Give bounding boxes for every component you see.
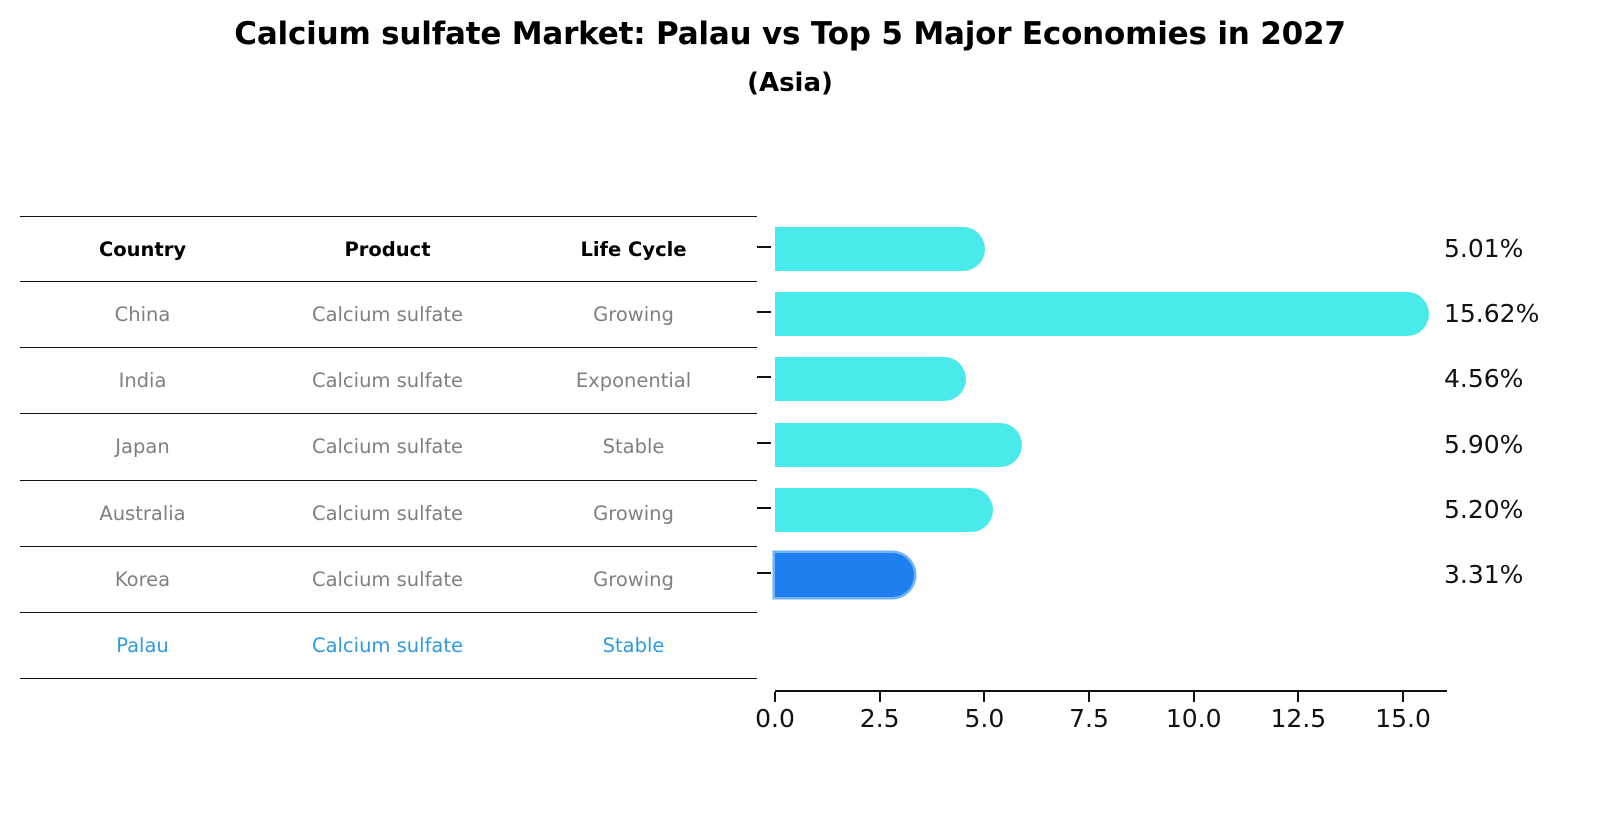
- cell-product: Calcium sulfate: [265, 546, 510, 612]
- cell-product: Calcium sulfate: [265, 612, 510, 678]
- cell-product: Calcium sulfate: [265, 348, 510, 414]
- x-axis-tick-label: 12.5: [1271, 704, 1327, 733]
- country-table: Country Product Life Cycle ChinaCalcium …: [20, 216, 757, 679]
- bar-india: [775, 292, 1429, 336]
- x-axis: 0.02.55.07.510.012.515.0: [757, 690, 1447, 740]
- table-header-row: Country Product Life Cycle: [20, 217, 757, 282]
- bar-row: [757, 216, 1447, 281]
- bar-china: [775, 227, 985, 271]
- table-row: KoreaCalcium sulfateGrowing: [20, 546, 757, 612]
- page-title: Calcium sulfate Market: Palau vs Top 5 M…: [0, 14, 1580, 54]
- cell-life-cycle: Exponential: [510, 348, 757, 414]
- y-axis-tick: [757, 572, 771, 574]
- value-label-china: 5.01%: [1444, 216, 1523, 281]
- bar-row: [757, 281, 1447, 346]
- value-label-japan: 4.56%: [1444, 346, 1523, 411]
- x-axis-tick: [983, 692, 985, 702]
- x-axis-tick: [1297, 692, 1299, 702]
- bar-palau: [775, 553, 914, 597]
- y-axis-tick: [757, 246, 771, 248]
- value-label-palau: 3.31%: [1444, 542, 1523, 607]
- value-label-india: 15.62%: [1444, 281, 1539, 346]
- cell-life-cycle: Stable: [510, 612, 757, 678]
- table-body: ChinaCalcium sulfateGrowingIndiaCalcium …: [20, 282, 757, 679]
- cell-country: Palau: [20, 612, 265, 678]
- bar-row: [757, 542, 1447, 607]
- value-label-australia: 5.90%: [1444, 412, 1523, 477]
- bar-row: [757, 412, 1447, 477]
- bar-australia: [775, 423, 1022, 467]
- bar-korea: [775, 488, 993, 532]
- cell-country: Korea: [20, 546, 265, 612]
- bar-value-labels: 5.01%15.62%4.56%5.90%5.20%3.31%: [1444, 216, 1604, 691]
- x-axis-tick-label: 0.0: [755, 704, 795, 733]
- x-axis-tick-label: 7.5: [1069, 704, 1109, 733]
- x-axis-tick-label: 5.0: [964, 704, 1004, 733]
- column-header-life-cycle: Life Cycle: [510, 217, 757, 282]
- table: Country Product Life Cycle ChinaCalcium …: [20, 216, 757, 679]
- cell-product: Calcium sulfate: [265, 414, 510, 480]
- x-axis-tick: [1193, 692, 1195, 702]
- cell-product: Calcium sulfate: [265, 480, 510, 546]
- x-axis-tick: [774, 692, 776, 702]
- table-row: AustraliaCalcium sulfateGrowing: [20, 480, 757, 546]
- cell-life-cycle: Growing: [510, 480, 757, 546]
- x-axis-line: [775, 690, 1447, 692]
- x-axis-tick: [879, 692, 881, 702]
- x-axis-tick-label: 10.0: [1166, 704, 1222, 733]
- column-header-product: Product: [265, 217, 510, 282]
- bar-row: [757, 346, 1447, 411]
- x-axis-tick: [1088, 692, 1090, 702]
- x-axis-tick-label: 15.0: [1375, 704, 1431, 733]
- table-row: IndiaCalcium sulfateExponential: [20, 348, 757, 414]
- x-axis-tick-label: 2.5: [860, 704, 900, 733]
- cell-country: China: [20, 282, 265, 348]
- y-axis-tick: [757, 376, 771, 378]
- cell-country: India: [20, 348, 265, 414]
- cell-country: Australia: [20, 480, 265, 546]
- cell-life-cycle: Growing: [510, 282, 757, 348]
- cell-life-cycle: Stable: [510, 414, 757, 480]
- table-row: JapanCalcium sulfateStable: [20, 414, 757, 480]
- title-block: Calcium sulfate Market: Palau vs Top 5 M…: [0, 14, 1580, 102]
- column-header-country: Country: [20, 217, 265, 282]
- y-axis-tick: [757, 311, 771, 313]
- bar-chart-plot-area: [757, 216, 1447, 691]
- cell-product: Calcium sulfate: [265, 282, 510, 348]
- y-axis-tick: [757, 442, 771, 444]
- bar-japan: [775, 357, 966, 401]
- value-label-korea: 5.20%: [1444, 477, 1523, 542]
- cell-life-cycle: Growing: [510, 546, 757, 612]
- y-axis-tick: [757, 507, 771, 509]
- x-axis-tick: [1402, 692, 1404, 702]
- table-row: ChinaCalcium sulfateGrowing: [20, 282, 757, 348]
- cell-country: Japan: [20, 414, 265, 480]
- table-row: PalauCalcium sulfateStable: [20, 612, 757, 678]
- bar-row: [757, 477, 1447, 542]
- page-subtitle: (Asia): [0, 64, 1580, 102]
